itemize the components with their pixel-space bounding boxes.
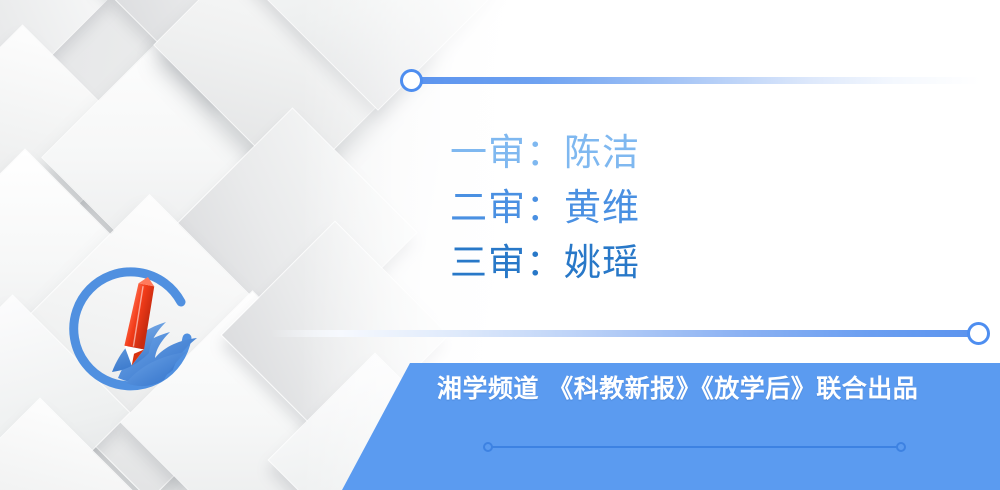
channel-logo [56,250,216,410]
credit-line-third-review: 三审：姚瑶 [450,235,870,290]
top-connector-line [414,77,980,84]
banner-rule-dot-right [896,442,906,452]
banner-title: 湘学频道 《科教新报》《放学后》联合出品 [437,372,997,406]
top-connector-ring [400,69,423,92]
credits-block: 一审：陈洁 二审：黄维 三审：姚瑶 [450,125,870,290]
banner-rule-dot-left [483,442,493,452]
slide-canvas: 一审：陈洁 二审：黄维 三审：姚瑶 湘学频道 《科教新报》《放学后》联合出品 [0,0,1000,490]
bottom-connector-ring [967,322,990,345]
credit-line-second-review: 二审：黄维 [450,180,870,235]
bottom-connector-line [270,330,980,337]
credit-line-first-review: 一审：陈洁 [450,125,870,180]
banner-rule-line [491,446,901,448]
logo-svg [56,250,216,410]
